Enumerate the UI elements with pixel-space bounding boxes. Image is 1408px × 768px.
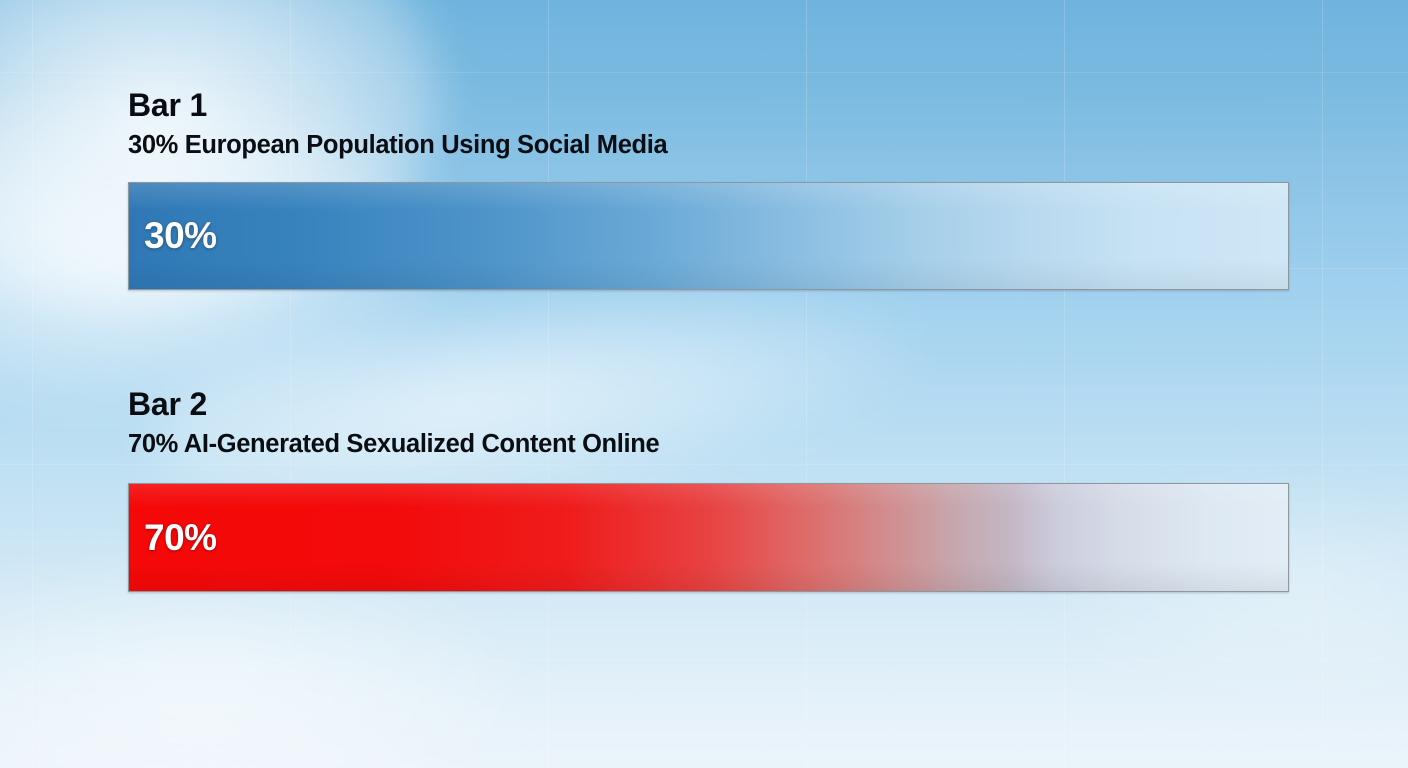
slide-canvas: Bar 1 30% European Population Using Soci… <box>0 0 1408 768</box>
bar-2-subtitle: 70% AI-Generated Sexualized Content Onli… <box>128 430 1289 458</box>
bar-group-1: Bar 1 30% European Population Using Soci… <box>128 88 1289 290</box>
bar-group-2: Bar 2 70% AI-Generated Sexualized Conten… <box>128 387 1289 592</box>
bar-2-track[interactable]: 70% <box>128 483 1289 592</box>
chart-content: Bar 1 30% European Population Using Soci… <box>0 0 1408 768</box>
bar-1-fill <box>129 183 1288 289</box>
bar-2-fill <box>129 484 1288 591</box>
bar-2-title: Bar 2 <box>128 387 1289 422</box>
bar-1-title: Bar 1 <box>128 88 1289 123</box>
bar-1-track[interactable]: 30% <box>128 182 1289 290</box>
bar-1-subtitle: 30% European Population Using Social Med… <box>128 131 1289 159</box>
